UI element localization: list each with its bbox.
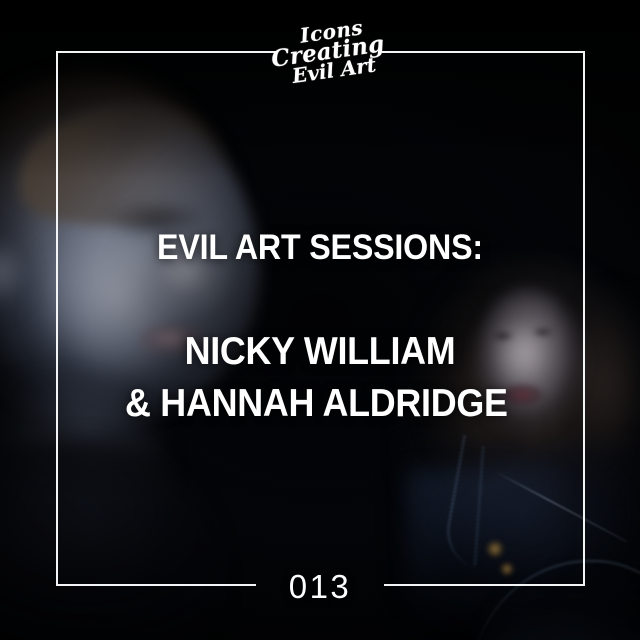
necklace-strand-1	[441, 436, 524, 573]
frame-line-top-left	[56, 51, 276, 53]
episode-number: 013	[0, 568, 640, 606]
man-fringe	[20, 105, 235, 225]
brand-logo: Icons Creating Evil Art	[276, 14, 380, 90]
woman-torso	[400, 448, 640, 640]
artist-name-1: NICKY WILLIAM	[26, 330, 615, 374]
guitar-strings	[494, 470, 627, 542]
necklace-strand-2	[474, 447, 520, 567]
woman-jacket	[408, 470, 558, 630]
series-title: EVIL ART SESSIONS:	[26, 228, 615, 268]
title-block: EVIL ART SESSIONS: NICKY WILLIAM & HANNA…	[0, 228, 640, 426]
gold-bead-1	[486, 540, 504, 558]
podcast-cover-art: Icons Creating Evil Art EVIL ART SESSION…	[0, 0, 640, 640]
artist-name-2: & HANNAH ALDRIDGE	[22, 382, 611, 426]
man-shoulder	[0, 440, 220, 640]
frame-line-top-right	[382, 51, 585, 53]
